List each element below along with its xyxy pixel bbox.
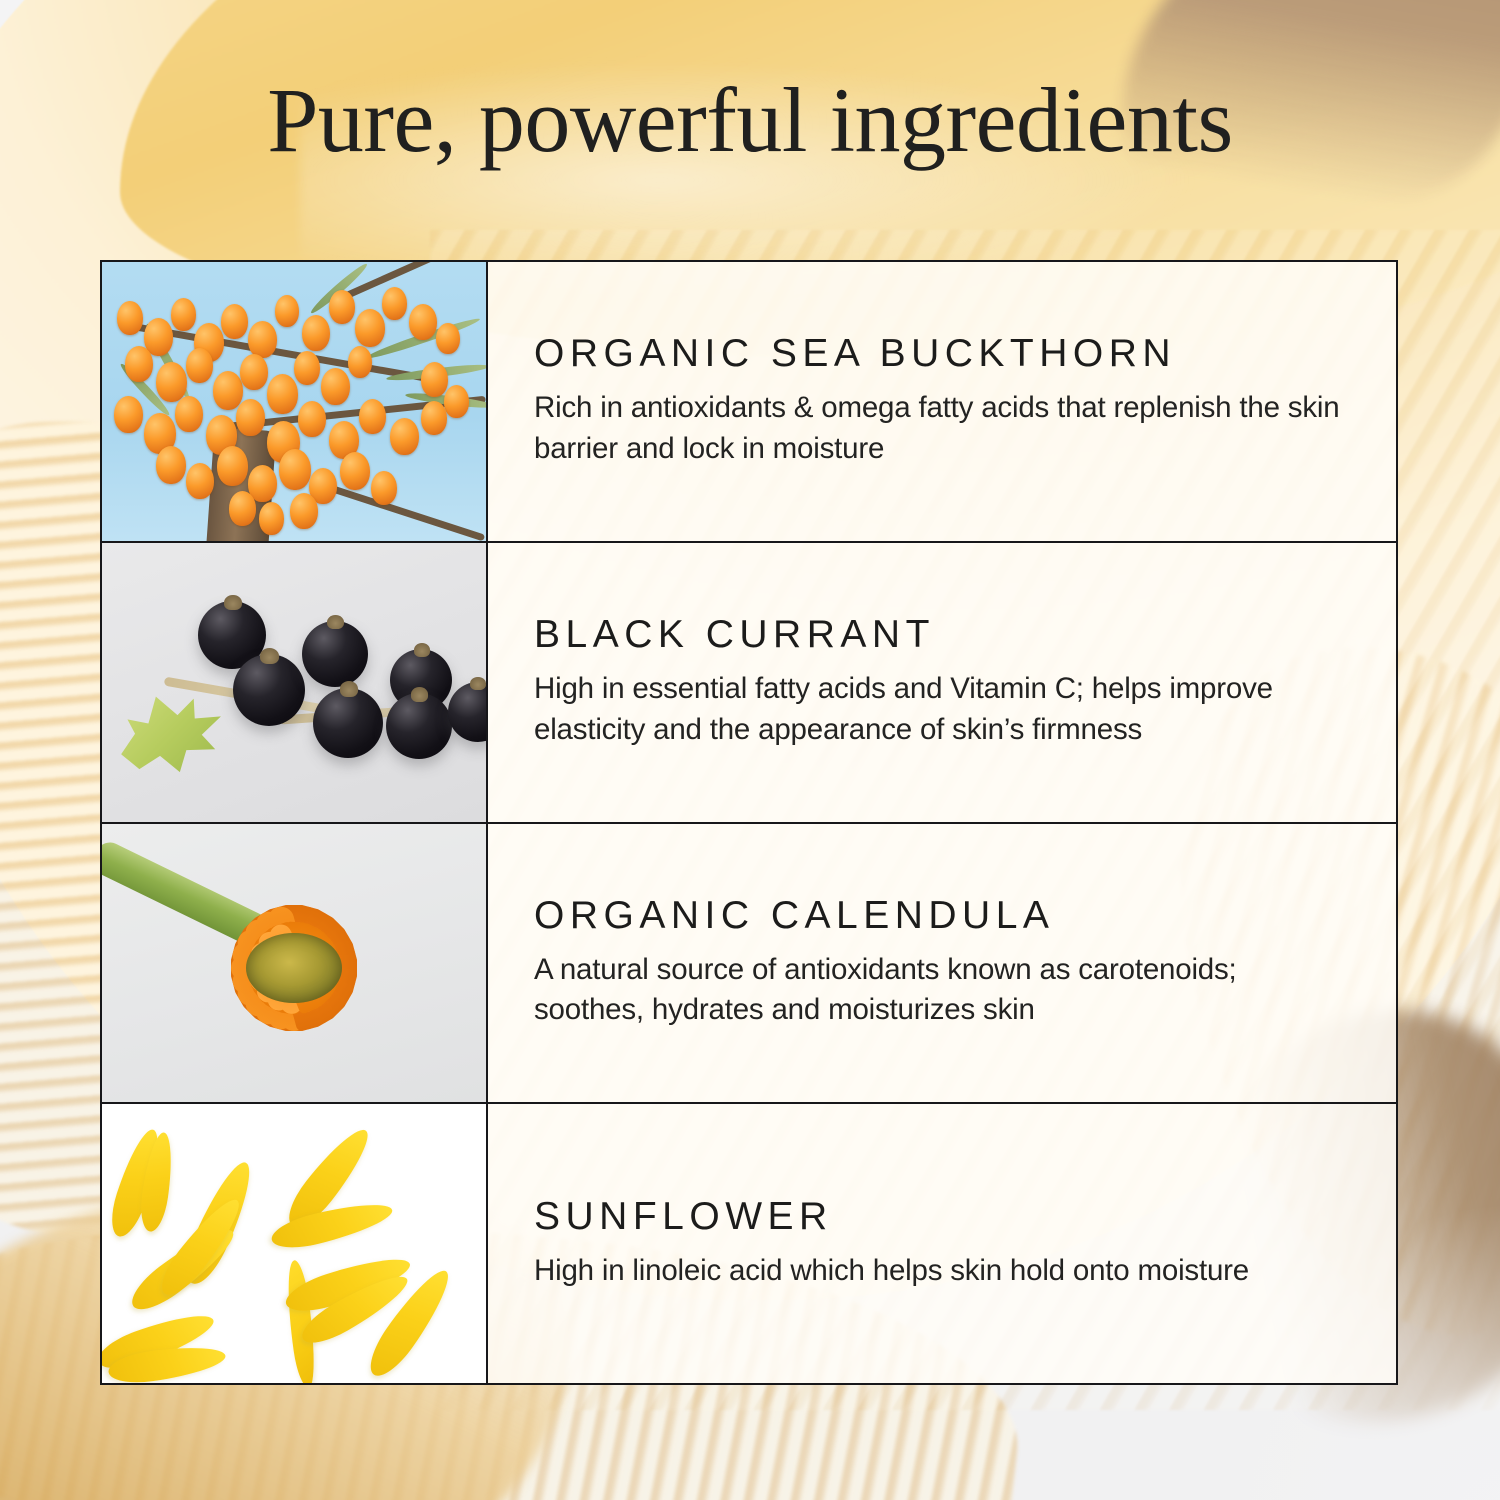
calendula-flower-icon (160, 844, 428, 1092)
ingredient-description: Rich in antioxidants & omega fatty acids… (534, 388, 1350, 469)
ingredient-description: High in essential fatty acids and Vitami… (534, 669, 1350, 750)
page-title: Pure, powerful ingredients (0, 74, 1500, 166)
ingredient-image-sunflower (102, 1104, 488, 1383)
ingredient-image-calendula (102, 824, 488, 1103)
table-row: SUNFLOWER High in linoleic acid which he… (102, 1104, 1396, 1383)
ingredient-name: SUNFLOWER (534, 1196, 1350, 1239)
ingredients-table: ORGANIC SEA BUCKTHORN Rich in antioxidan… (100, 260, 1398, 1385)
ingredient-description: High in linoleic acid which helps skin h… (534, 1251, 1350, 1292)
table-row: ORGANIC CALENDULA A natural source of an… (102, 824, 1396, 1105)
ingredients-infographic: Pure, powerful ingredients (0, 0, 1500, 1500)
ingredient-description: A natural source of antioxidants known a… (534, 950, 1350, 1031)
ingredient-text-sunflower: SUNFLOWER High in linoleic acid which he… (488, 1104, 1396, 1383)
ingredient-name: BLACK CURRANT (534, 614, 1350, 657)
ingredient-text-calendula: ORGANIC CALENDULA A natural source of an… (488, 824, 1396, 1103)
ingredient-image-black-currant (102, 543, 488, 822)
ingredient-text-black-currant: BLACK CURRANT High in essential fatty ac… (488, 543, 1396, 822)
ingredient-name: ORGANIC SEA BUCKTHORN (534, 333, 1350, 376)
ingredient-name: ORGANIC CALENDULA (534, 895, 1350, 938)
table-row: ORGANIC SEA BUCKTHORN Rich in antioxidan… (102, 262, 1396, 543)
ingredient-text-sea-buckthorn: ORGANIC SEA BUCKTHORN Rich in antioxidan… (488, 262, 1396, 541)
flower-center (246, 933, 342, 1003)
ingredient-image-sea-buckthorn (102, 262, 488, 541)
table-row: BLACK CURRANT High in essential fatty ac… (102, 543, 1396, 824)
